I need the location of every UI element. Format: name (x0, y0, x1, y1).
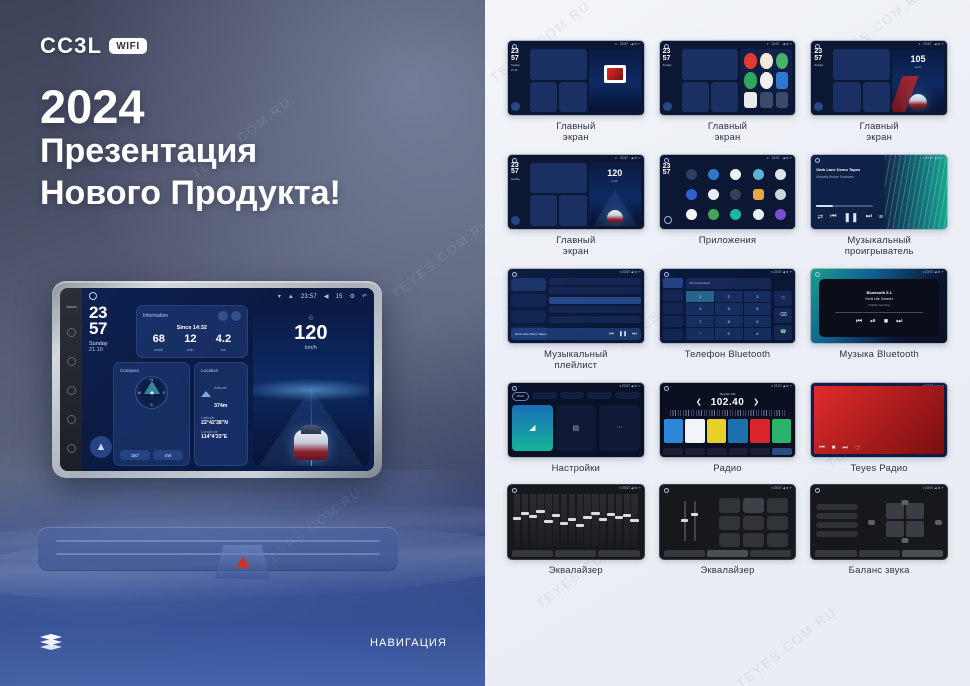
thumbnail-bluetooth-music[interactable]: ▾ 23:57 ◀ ⚙ ↶ Bluetooth 5.1 Feels Like S… (810, 268, 948, 344)
dialpad-key[interactable]: 3 (744, 291, 772, 303)
eq-band[interactable] (530, 494, 536, 547)
next-track-icon[interactable]: ⏭ (896, 318, 902, 326)
eq-band[interactable] (592, 494, 598, 547)
tab-sound-field[interactable] (555, 550, 596, 557)
back-hw-button[interactable] (67, 386, 76, 395)
location-widget (863, 82, 890, 113)
eq-band[interactable] (616, 494, 622, 547)
balance-right-button[interactable] (935, 520, 942, 525)
compass-needle (150, 391, 153, 394)
tab-apps[interactable] (587, 392, 612, 399)
thumbnail-home-screen-drive[interactable]: ▾ 23:57 ◀ ⚙ ↶ 23 57 Sunday 105 (810, 40, 948, 116)
phone-sidebar[interactable] (663, 278, 684, 340)
favorite-icon[interactable]: ♡ (855, 445, 860, 452)
gallery-item[interactable]: ▾ 23:57 ◀ ⚙ ↶ Wi-Fi ◢ ▤ ⋯ (507, 382, 645, 475)
list-item[interactable] (549, 316, 641, 323)
stop-icon[interactable]: ■ (832, 445, 836, 452)
dialpad-key[interactable]: 6 (744, 303, 772, 315)
preset-button[interactable] (767, 533, 788, 547)
gallery-item-caption: Эквалайзер (549, 566, 603, 577)
preset-button[interactable] (816, 504, 858, 510)
app-icon (776, 92, 789, 108)
preset-station[interactable] (750, 419, 770, 443)
eq-band[interactable] (624, 494, 630, 547)
tab-system[interactable] (615, 392, 640, 399)
screenshot-gallery: TEYES.COM.RU TEYES.COM.RU TEYES.COM.RU T… (485, 0, 970, 686)
wifi-icon: ▾ (278, 293, 281, 300)
app-icon-maps[interactable] (708, 209, 719, 220)
tab-eq[interactable] (512, 550, 553, 557)
information-header: Information (143, 311, 241, 321)
station-name: Maydan FM (664, 392, 792, 396)
app-icon-play-store[interactable] (753, 209, 764, 220)
home-hw-button[interactable] (67, 357, 76, 366)
driving-widget[interactable]: ☉ 120 km/h (253, 305, 369, 466)
section-label-navigation: НАВИГАЦИЯ (370, 637, 447, 649)
speed-value: 120 (253, 323, 369, 343)
preset-station[interactable] (664, 419, 684, 443)
app-icon-gallery[interactable] (775, 189, 786, 200)
list-item[interactable] (549, 278, 641, 285)
gallery-item-caption: Teyes Радио (851, 464, 908, 475)
sidebar-item-favorites[interactable] (511, 310, 546, 323)
toolbar-button[interactable] (772, 448, 792, 455)
balance-pad[interactable] (863, 494, 947, 547)
stat-unit: min (184, 347, 196, 352)
stat-unit: km (216, 347, 231, 352)
home-left-column: 23 57 Sunday 21.10 Information (87, 305, 248, 466)
clock-minutes: 57 (663, 56, 680, 63)
toolbar-button[interactable] (729, 448, 749, 455)
app-icon-calculator[interactable] (753, 169, 764, 180)
clock-date: 21.10 (511, 69, 528, 72)
call-icon[interactable]: ☎ (774, 325, 792, 340)
back-icon[interactable] (664, 216, 672, 224)
preset-button[interactable] (743, 533, 764, 547)
thumbnail-music-playlist[interactable]: ▾ 23:57 ◀ ⚙ ↶ (507, 268, 645, 344)
speaker-front-left[interactable] (886, 503, 904, 519)
music-widget (589, 49, 641, 112)
thumbnail-home-screen-music[interactable]: ▾ 23:57 ◀ ⚙ ↶ 23 57 Sunday 21.10 (507, 40, 645, 116)
gallery-item-caption: Главныйэкран (860, 122, 899, 144)
app-icon-chrome[interactable] (686, 189, 697, 200)
stat-value: 12 (184, 334, 196, 345)
watermark: TEYES.COM.RU (733, 604, 839, 686)
toolbar-button[interactable] (663, 448, 683, 455)
bluetooth-title: Bluetooth 5.1 (866, 290, 891, 295)
balance-left-button[interactable] (868, 520, 875, 525)
now-playing-bar[interactable]: Dark Lane Demo Tapes ⏮ ❚❚ ⏭ (511, 328, 641, 340)
eq-band[interactable] (631, 494, 637, 547)
dashboard-vent (38, 527, 398, 571)
toolbar-button[interactable] (707, 448, 727, 455)
back-icon[interactable]: ↶ (362, 293, 367, 300)
previous-station-icon[interactable]: ❮ (696, 398, 702, 406)
next-station-icon[interactable]: ❯ (753, 398, 759, 406)
preset-button[interactable] (816, 513, 858, 519)
tab-eq[interactable] (815, 550, 856, 557)
tab-display[interactable] (560, 392, 585, 399)
dialpad-key[interactable]: 9 (744, 316, 772, 328)
wifi-icon: ◢ (529, 423, 535, 432)
home-bottom-row: ▲ Compass N S W E (87, 362, 248, 466)
preset-station[interactable] (707, 419, 727, 443)
app-icon-contact[interactable] (708, 189, 719, 200)
volume-down-hw-button[interactable] (67, 444, 76, 453)
app-icon-bluetooth-music[interactable] (730, 169, 741, 180)
preset-button[interactable] (816, 531, 858, 537)
preset-button[interactable] (719, 533, 740, 547)
gallery-item[interactable]: ▾ 23:57 ◀ ⚙ ↶ (810, 382, 948, 475)
compass-south: S (150, 403, 152, 407)
thumbnail-equalizer-presets[interactable]: ▾ 23:57 ◀ ⚙ ↶ (659, 484, 797, 560)
head-unit-screen[interactable]: ▾ ▲ 23:57 ◀ 15 ⚙ ↶ 23 57 (82, 288, 374, 471)
preset-button[interactable] (767, 516, 788, 530)
information-widget (530, 49, 587, 80)
location-widget (559, 82, 586, 113)
balance-up-button[interactable] (901, 500, 908, 505)
preset-station[interactable] (728, 419, 748, 443)
sidebar-item-search[interactable] (663, 303, 684, 314)
hero-panel: TEYES.COM.RU TEYES.COM.RU TEYES.COM.RU T… (0, 0, 485, 686)
gallery-item[interactable]: ▾ 23:57 ◀ ⚙ ↶ 23 57 Sunday 105 (810, 40, 948, 144)
previous-track-icon[interactable]: ⏮ (830, 213, 836, 221)
tile-traffic-usage[interactable]: ▤ (556, 405, 597, 451)
sidebar-item-dialpad[interactable] (663, 278, 684, 289)
app-icon-wifi[interactable] (686, 169, 697, 180)
information-widget (682, 49, 739, 80)
stop-icon[interactable]: ■ (884, 318, 888, 326)
toolbar-button[interactable] (685, 448, 705, 455)
app-icon (760, 92, 773, 108)
clock-widget: 23 57 (663, 164, 680, 177)
preset-list[interactable] (664, 419, 792, 443)
clock-minutes: 57 (511, 169, 528, 176)
volume-level: 15 (336, 294, 343, 300)
slider[interactable] (684, 501, 686, 541)
refresh-icon[interactable] (218, 311, 228, 321)
gallery-item-caption: Музыкальныйплейлист (544, 350, 608, 372)
hazard-light-button[interactable] (215, 545, 271, 579)
gallery-item-caption: Музыка Bluetooth (839, 350, 919, 361)
pause-icon[interactable]: ❚❚ (844, 212, 859, 223)
sidebar-item-recents[interactable] (663, 290, 684, 301)
track-artist: Childish Gambino (868, 303, 890, 307)
balance-presets[interactable] (811, 494, 863, 547)
preset-button[interactable] (743, 498, 764, 512)
app-icon-file-manager[interactable] (753, 189, 764, 200)
clock-date: 21.10 (89, 347, 131, 353)
app-icon-google[interactable] (686, 209, 697, 220)
progress-bar[interactable] (835, 312, 924, 313)
eq-band[interactable] (561, 494, 567, 547)
layers-icon (40, 634, 62, 652)
eq-band[interactable] (553, 494, 559, 547)
tab-sound-field[interactable] (707, 550, 748, 557)
compass-title: Compass (120, 368, 183, 373)
dialpad-key[interactable]: 4 (686, 303, 714, 315)
clock-day: Sunday (663, 64, 680, 67)
dialpad-key[interactable]: 2 (715, 291, 743, 303)
car-roof (301, 425, 321, 434)
title-year: 2024 (40, 82, 341, 131)
tab-eq[interactable] (664, 550, 705, 557)
dialpad-key[interactable]: 7 (686, 316, 714, 328)
power-hw-button[interactable] (67, 328, 76, 337)
eq-band[interactable] (577, 494, 583, 547)
information-widget[interactable]: Information Since 14:32 (136, 305, 248, 358)
compass-east: E (163, 391, 165, 395)
visualizer-graphic (885, 155, 947, 229)
thumbnail-home-screen-nav[interactable]: ▾ 23:57 ◀ ⚙ ↶ 23 57 Sunday 120 (507, 154, 645, 230)
previous-track-icon[interactable]: ⏮ (819, 445, 824, 452)
tab-fader[interactable] (902, 550, 943, 557)
gallery-grid: ▾ 23:57 ◀ ⚙ ↶ 23 57 Sunday 21.10 (507, 40, 948, 577)
dialpad-key[interactable]: # (744, 328, 772, 340)
eq-band[interactable] (537, 494, 543, 547)
gallery-item[interactable]: ▾ 23:57 ◀ ⚙ ↶ (507, 484, 645, 577)
gallery-item-caption: Музыкальныйпроигрыватель (845, 236, 914, 258)
equalizer-tabbar[interactable] (664, 550, 792, 557)
gallery-item-caption: Эквалайзер (700, 566, 754, 577)
hardware-button-rail[interactable] (60, 288, 82, 471)
driving-widget: 105 km/h (892, 49, 944, 112)
app-grid[interactable] (680, 163, 793, 226)
mountain-icon (201, 391, 211, 397)
progress-bar[interactable] (816, 205, 873, 207)
tile-more[interactable]: ⋯ (599, 405, 640, 451)
gear-icon[interactable]: ⚙ (350, 293, 355, 300)
pause-icon[interactable]: ❚❚ (619, 331, 627, 337)
clock-minutes: 57 (89, 321, 131, 337)
car-illustration (607, 210, 623, 223)
gallery-item[interactable]: ▾ 23:57 ◀ ⚙ ↶ 23 57 Sunday 120 (507, 154, 645, 258)
gallery-item[interactable]: ▾ 23:57 ◀ ⚙ ↶ 23 57 (659, 154, 797, 258)
gallery-item-caption: Главныйэкран (556, 236, 595, 258)
preset-button[interactable] (743, 516, 764, 530)
menu-hw-button[interactable] (66, 306, 77, 308)
status-bar: ▾ ▲ 23:57 ◀ 15 ⚙ ↶ (82, 288, 374, 305)
compass-widget (530, 82, 557, 113)
app-icon-dvr-recorder[interactable] (730, 189, 741, 200)
app-icon-radio[interactable] (775, 209, 786, 220)
list-item[interactable] (549, 287, 641, 294)
navigation-shortcut-button (511, 102, 520, 111)
information-widget (833, 49, 890, 80)
app-icon (776, 72, 789, 88)
app-icon-music-player[interactable] (730, 209, 741, 220)
playlist-icon[interactable]: ≡ (879, 214, 883, 221)
play-pause-icon[interactable]: ⏯ (870, 318, 876, 326)
eq-band[interactable] (514, 494, 520, 547)
thumbnail-radio[interactable]: ▾ 23:57 ◀ ⚙ ↶ Maydan FM ❮ 102.40 ❯ (659, 382, 797, 458)
toolbar-button[interactable] (750, 448, 770, 455)
gallery-item[interactable]: ▾ 23:57 ◀ ⚙ ↶ 23 57 Sunday (659, 40, 797, 144)
eq-band[interactable] (584, 494, 590, 547)
compass-widget[interactable]: Compass N S W E (113, 362, 190, 466)
radio-toolbar[interactable] (663, 448, 793, 455)
preset-button[interactable] (767, 498, 788, 512)
app-shortcut-panel (740, 49, 792, 112)
gallery-item[interactable]: ▾ 23:57 ◀ ⚙ ↶ (507, 268, 645, 372)
tab-sound[interactable] (532, 392, 557, 399)
home-screen: 23 57 Sunday 21.10 Information (87, 305, 369, 466)
compass-west: W (138, 391, 141, 395)
sidebar-item-settings[interactable] (663, 329, 684, 340)
app-icon (760, 72, 773, 88)
dialpad-key[interactable]: 8 (715, 316, 743, 328)
speaker-rear-left[interactable] (886, 521, 904, 537)
compass-heading: 180° (120, 450, 150, 460)
app-icon (744, 92, 757, 108)
preset-station[interactable] (772, 419, 792, 443)
compass-values: 180° SW (120, 450, 183, 460)
volume-up-hw-button[interactable] (67, 415, 76, 424)
thumbnail-applications[interactable]: ▾ 23:57 ◀ ⚙ ↶ 23 57 (659, 154, 797, 230)
speaker-rear-right[interactable] (906, 521, 924, 537)
equalizer-bands[interactable] (508, 485, 644, 559)
previous-track-icon[interactable]: ⏮ (856, 318, 862, 326)
eq-band[interactable] (545, 494, 551, 547)
location-widget[interactable]: Location Altitude 374m (194, 362, 248, 466)
eq-band[interactable] (600, 494, 606, 547)
next-track-icon[interactable]: ⏭ (842, 445, 847, 452)
gallery-item[interactable]: ▾ 23:57 ◀ ⚙ ↶ Not Connected 1 (659, 268, 797, 372)
tab-fader[interactable] (750, 550, 791, 557)
thumbnail-teyes-radio[interactable]: ▾ 23:57 ◀ ⚙ ↶ (810, 382, 948, 458)
thumbnail-equalizer-bands[interactable]: ▾ 23:57 ◀ ⚙ ↶ (507, 484, 645, 560)
speed-unit: km/h (253, 345, 369, 351)
expand-icon[interactable] (231, 311, 241, 321)
equalizer-tabbar[interactable] (512, 550, 640, 557)
preset-grid[interactable] (719, 498, 788, 547)
eq-band[interactable] (569, 494, 575, 547)
gallery-item-caption: Телефон Bluetooth (685, 350, 771, 361)
favorite-icon[interactable]: ☆ (774, 291, 792, 306)
clock-minutes: 57 (511, 56, 528, 63)
hazard-triangle-icon (236, 556, 250, 568)
location-widget (559, 195, 586, 226)
trip-since-label: Since 14:32 (143, 325, 241, 331)
next-track-icon[interactable]: ⏭ (866, 213, 872, 221)
volume-icon[interactable]: ◀ (324, 293, 329, 300)
trip-stats: 68 km/h 12 min 4.2 (143, 334, 241, 352)
gallery-item-caption: Приложения (699, 236, 757, 247)
balance-down-button[interactable] (901, 538, 908, 543)
navigation-shortcut-button (511, 216, 520, 225)
chart-icon: ▤ (573, 424, 580, 432)
clock-minutes: 57 (814, 56, 831, 63)
car-illustration (294, 430, 328, 460)
frequency-value: 102.40 (711, 397, 745, 408)
preset-button[interactable] (816, 522, 858, 528)
product-logo: CC3L WIFI (40, 33, 147, 59)
thumbnail-music-player[interactable]: ▾ 23:57 ◀ ⚙ ↶ Dark Lane Demo Tapes Mutua… (810, 154, 948, 230)
previous-track-icon[interactable]: ⏮ (609, 331, 614, 337)
next-track-icon[interactable]: ⏭ (632, 331, 637, 337)
equalizer-tabbar[interactable] (815, 550, 943, 557)
shuffle-icon[interactable]: ⇄ (817, 213, 823, 221)
list-item[interactable] (549, 297, 641, 304)
backspace-icon[interactable]: ⌫ (774, 308, 792, 323)
preset-button[interactable] (719, 498, 740, 512)
clock-widget[interactable]: 23 57 Sunday 21.10 (87, 305, 131, 358)
list-item[interactable] (549, 306, 641, 313)
page-title: 2024 Презентация Нового Продукта! (40, 82, 341, 214)
speed-icon: ☉ (308, 315, 313, 322)
speed-unit: km/h (589, 179, 641, 183)
navigation-shortcut-button[interactable]: ▲ (90, 436, 112, 458)
track-artist: Mutually Broken Eardrums (816, 175, 876, 179)
slider[interactable] (694, 501, 696, 541)
information-title: Information (143, 313, 168, 319)
stat-duration: 12 min (184, 334, 196, 352)
thumbnail-home-screen-apps[interactable]: ▾ 23:57 ◀ ⚙ ↶ 23 57 Sunday (659, 40, 797, 116)
thumbnail-sound-balance[interactable]: ▾ 23:57 ◀ ⚙ ↶ (810, 484, 948, 560)
dialpad-key[interactable]: 0 (715, 328, 743, 340)
app-icon (760, 53, 773, 69)
gallery-item[interactable]: ▾ 23:57 ◀ ⚙ ↶ Maydan FM ❮ 102.40 ❯ (659, 382, 797, 475)
speaker-front-right[interactable] (906, 503, 924, 519)
tile-wifi[interactable]: ◢ (512, 405, 553, 451)
track-title: Dark Lane Demo Tapes (515, 332, 604, 336)
sidebar-item-contacts[interactable] (663, 316, 684, 327)
altitude-label: Altitude (214, 386, 227, 390)
driving-widget: 120 km/h (589, 163, 641, 226)
gallery-item[interactable]: ▾ 23:57 ◀ ⚙ ↶ Dark Lane Demo Tapes Mutua… (810, 154, 948, 258)
settings-tabbar[interactable]: Wi-Fi (512, 392, 640, 401)
fader-sliders[interactable] (667, 498, 713, 547)
eq-band[interactable] (608, 494, 614, 547)
frequency-scale[interactable] (670, 410, 786, 416)
eq-band[interactable] (522, 494, 528, 547)
dialpad-key[interactable]: 1 (686, 291, 714, 303)
gallery-item-caption: Настройки (552, 464, 600, 475)
thumbnail-bluetooth-phone[interactable]: ▾ 23:57 ◀ ⚙ ↶ Not Connected 1 (659, 268, 797, 344)
speed-value: 120 (589, 168, 641, 178)
album-art (834, 413, 856, 432)
signal-icon: ▲ (288, 294, 294, 300)
gallery-item[interactable]: ▾ 23:57 ◀ ⚙ ↶ (659, 484, 797, 577)
tab-sound-field[interactable] (859, 550, 900, 557)
location-longitude: Longitude 114°4'33"E (201, 430, 241, 440)
app-icon-bluetooth[interactable] (708, 169, 719, 180)
title-line-2: Нового Продукта! (40, 173, 341, 214)
status-time: 23:57 (301, 294, 317, 300)
dialpad-key[interactable]: * (686, 328, 714, 340)
tab-wlan[interactable]: Wi-Fi (512, 392, 529, 401)
speed-unit: km/h (892, 65, 944, 69)
dialpad-key[interactable]: 5 (715, 303, 743, 315)
gallery-item-caption: Главныйэкран (708, 122, 747, 144)
gallery-item[interactable]: ▾ 23:57 ◀ ⚙ ↶ 23 57 Sunday 21.10 (507, 40, 645, 144)
app-icon-camera[interactable] (775, 169, 786, 180)
car-illustration (909, 94, 927, 109)
preset-button[interactable] (719, 516, 740, 530)
track-title: Feels Like Summer (865, 297, 892, 301)
gallery-item-caption: Радио (713, 464, 741, 475)
thumbnail-settings[interactable]: ▾ 23:57 ◀ ⚙ ↶ Wi-Fi ◢ ▤ ⋯ (507, 382, 645, 458)
compass-widget (530, 195, 557, 226)
compass-north: N (150, 378, 152, 382)
tab-fader[interactable] (598, 550, 639, 557)
gallery-item[interactable]: ▾ 23:57 ◀ ⚙ ↶ Bluetooth 5.1 Feels Like S… (810, 268, 948, 372)
preset-station[interactable] (685, 419, 705, 443)
dialpad[interactable]: 1 2 3 4 5 6 7 8 9 * 0 # (686, 291, 771, 340)
sidebar-item-albums[interactable] (511, 294, 546, 307)
gallery-item[interactable]: ▾ 23:57 ◀ ⚙ ↶ (810, 484, 948, 577)
sidebar-item-tracks[interactable] (511, 278, 546, 291)
